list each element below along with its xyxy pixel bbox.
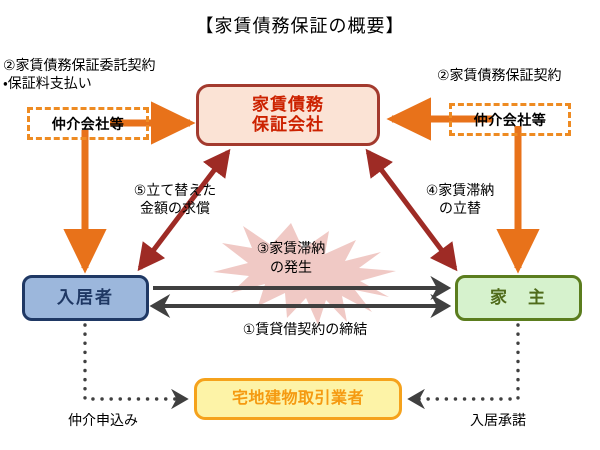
- label-lease-contract: ①賃貸借契約の締結: [215, 320, 395, 338]
- dotted-tenant-to-broker: [85, 325, 186, 399]
- node-landlord[interactable]: 家 主: [455, 275, 582, 321]
- label-arrears-advance: ④家賃滞納 の立替: [400, 181, 520, 217]
- node-agency-right[interactable]: 仲介会社等: [449, 103, 571, 136]
- label-occupancy-consent: 入居承諾: [470, 411, 526, 429]
- label-guarantee-entrustment-contract: ②家賃債務保証委託契約 ・保証料支払い: [3, 56, 156, 92]
- label-reimbursement-claim: ⑤立て替えた 金額の求償: [110, 181, 240, 217]
- label-brokerage-application: 仲介申込み: [68, 411, 138, 429]
- page-title: 【家賃債務保証の概要】: [0, 12, 600, 38]
- node-real-estate-broker[interactable]: 宅地建物取引業者: [194, 378, 402, 420]
- label-rent-arrears-occurrence: ③家賃滞納 の発生: [236, 239, 346, 277]
- node-tenant[interactable]: 入居者: [22, 275, 149, 321]
- node-agency-left[interactable]: 仲介会社等: [27, 107, 149, 140]
- node-guarantor-company[interactable]: 家賃債務 保証会社: [196, 84, 380, 146]
- dotted-landlord-to-broker: [410, 325, 518, 399]
- diagram-canvas: 【家賃債務保証の概要】: [0, 0, 600, 450]
- label-guarantee-contract: ②家賃債務保証契約: [437, 66, 562, 84]
